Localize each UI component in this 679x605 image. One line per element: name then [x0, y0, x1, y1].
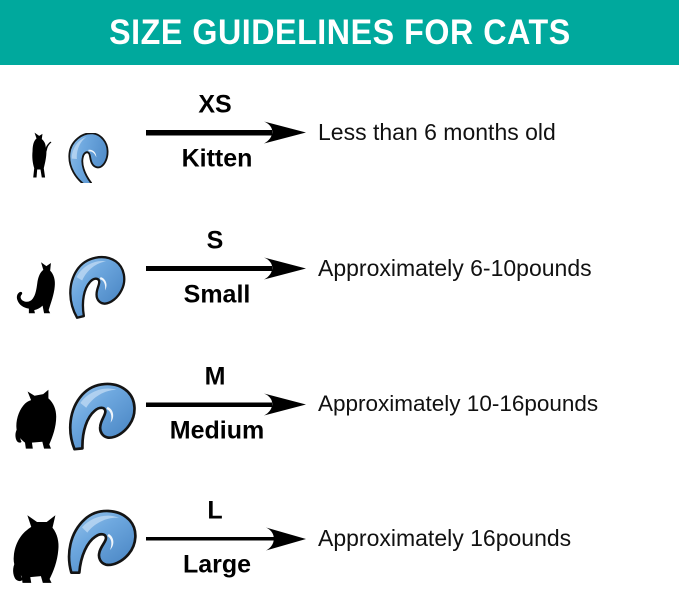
cat-standing-silhouette-icon [8, 95, 68, 181]
arrow-right-icon [146, 391, 310, 417]
size-row-xs: XS Kitten Less than 6 months old [0, 65, 679, 199]
nail-cap-xs-icon [62, 97, 142, 183]
cat-sitting-medium-silhouette-icon [8, 367, 68, 453]
description-text: Approximately 16pounds [318, 525, 571, 551]
description-cell-xs: Less than 6 months old [318, 65, 676, 199]
size-row-l: L Large Approximately 16pounds [0, 471, 679, 605]
size-name-label: Small [146, 282, 310, 308]
nail-cap-m-icon [62, 369, 142, 455]
size-guide-infographic: SIZE GUIDELINES FOR CATS [0, 0, 679, 599]
nail-cap-l-icon [62, 503, 142, 589]
header-banner: SIZE GUIDELINES FOR CATS [0, 0, 679, 65]
arrow-right-icon [146, 255, 310, 281]
size-code-label: S [146, 229, 310, 255]
description-cell-m: Approximately 10-16pounds [318, 337, 676, 471]
nail-cap-s-icon [62, 233, 142, 319]
size-code-label: M [146, 365, 310, 391]
arrow-group-s: S Small [146, 201, 310, 335]
size-rows: XS Kitten Less than 6 months old [0, 65, 679, 599]
size-code-label: XS [146, 93, 310, 119]
cat-sitting-large-silhouette-icon [8, 501, 68, 587]
description-text: Approximately 10-16pounds [318, 391, 598, 417]
size-name-label: Kitten [146, 146, 310, 172]
arrow-group-l: L Large [146, 471, 310, 605]
arrow-right-icon [146, 525, 310, 551]
size-name-label: Large [146, 552, 310, 578]
description-cell-l: Approximately 16pounds [318, 471, 676, 605]
cat-sitting-small-silhouette-icon [8, 231, 68, 317]
arrow-right-icon [146, 119, 310, 145]
description-text: Less than 6 months old [318, 119, 556, 145]
size-name-label: Medium [146, 418, 310, 444]
description-cell-s: Approximately 6-10pounds [318, 201, 676, 335]
arrow-group-xs: XS Kitten [146, 65, 310, 199]
size-code-label: L [146, 499, 310, 525]
size-row-s: S Small Approximately 6-10pounds [0, 201, 679, 335]
page-title: SIZE GUIDELINES FOR CATS [109, 15, 571, 50]
description-text: Approximately 6-10pounds [318, 255, 592, 281]
arrow-group-m: M Medium [146, 337, 310, 471]
size-row-m: M Medium Approximately 10-16pounds [0, 337, 679, 471]
